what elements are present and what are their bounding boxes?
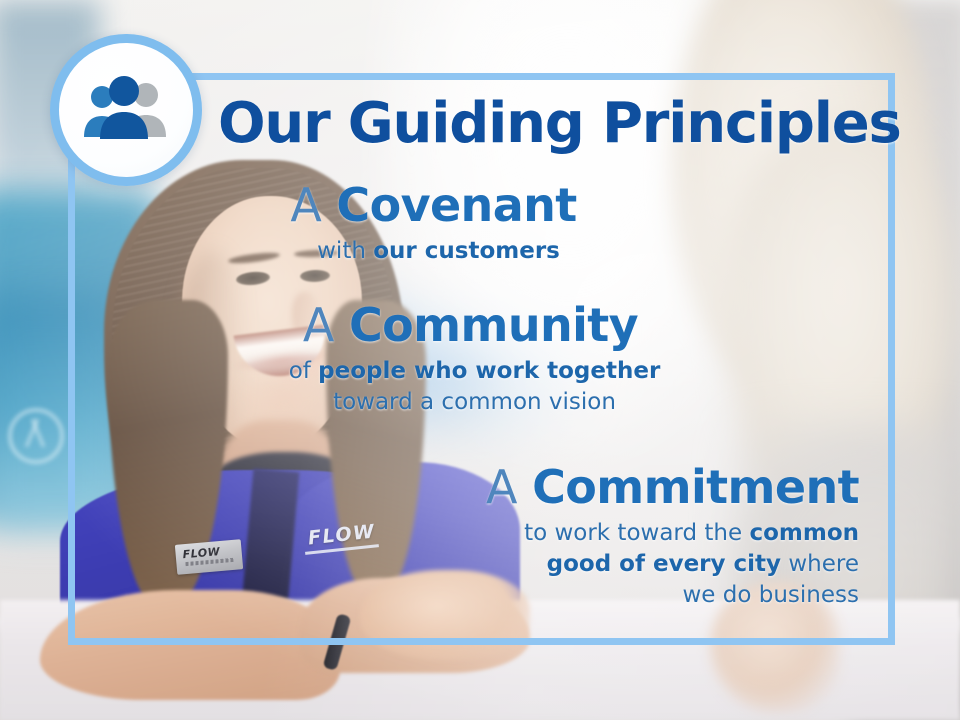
principle-community-heading: A Community <box>68 301 895 350</box>
principle-covenant-noun: Covenant <box>336 178 576 232</box>
principle-commitment-heading: A Commitment <box>68 463 895 512</box>
principle-covenant: A Covenant with our customers <box>68 181 895 267</box>
car-brand-emblem-icon <box>8 408 64 464</box>
principle-covenant-heading: A Covenant <box>68 181 895 230</box>
principle-commitment-sub-line2: we do business <box>683 582 860 608</box>
principle-community-subtext: of people who work together toward a com… <box>68 356 895 418</box>
principle-community-sub-bold: people who work together <box>318 358 660 384</box>
guiding-principles-banner: FLOW FLOW <box>0 0 960 720</box>
principle-commitment-sub-plain: to work toward the <box>524 520 749 546</box>
principle-commitment-noun: Commitment <box>532 460 859 514</box>
principle-covenant-subtext: with our customers <box>68 236 895 267</box>
principle-commitment-sub-bold2: good of every city <box>547 551 781 577</box>
principle-covenant-sub-plain: with <box>317 238 373 264</box>
principle-community-sub-plain: of <box>289 358 318 384</box>
principle-commitment-sub-plain2: where <box>781 551 859 577</box>
principle-commitment-article: A <box>486 460 517 514</box>
principle-community-noun: Community <box>349 298 638 352</box>
principle-covenant-article: A <box>290 178 321 232</box>
principle-commitment-subtext: to work toward the common good of every … <box>68 518 895 611</box>
principle-covenant-sub-bold: our customers <box>373 238 560 264</box>
principle-commitment: A Commitment to work toward the common g… <box>68 463 895 611</box>
principle-community: A Community of people who work together … <box>68 301 895 418</box>
principle-community-article: A <box>303 298 334 352</box>
principle-community-sub-line2: toward a common vision <box>333 389 616 415</box>
page-title: Our Guiding Principles <box>218 95 878 152</box>
content-area: Our Guiding Principles A Covenant with o… <box>68 73 895 645</box>
principle-commitment-sub-bold1: common <box>749 520 859 546</box>
